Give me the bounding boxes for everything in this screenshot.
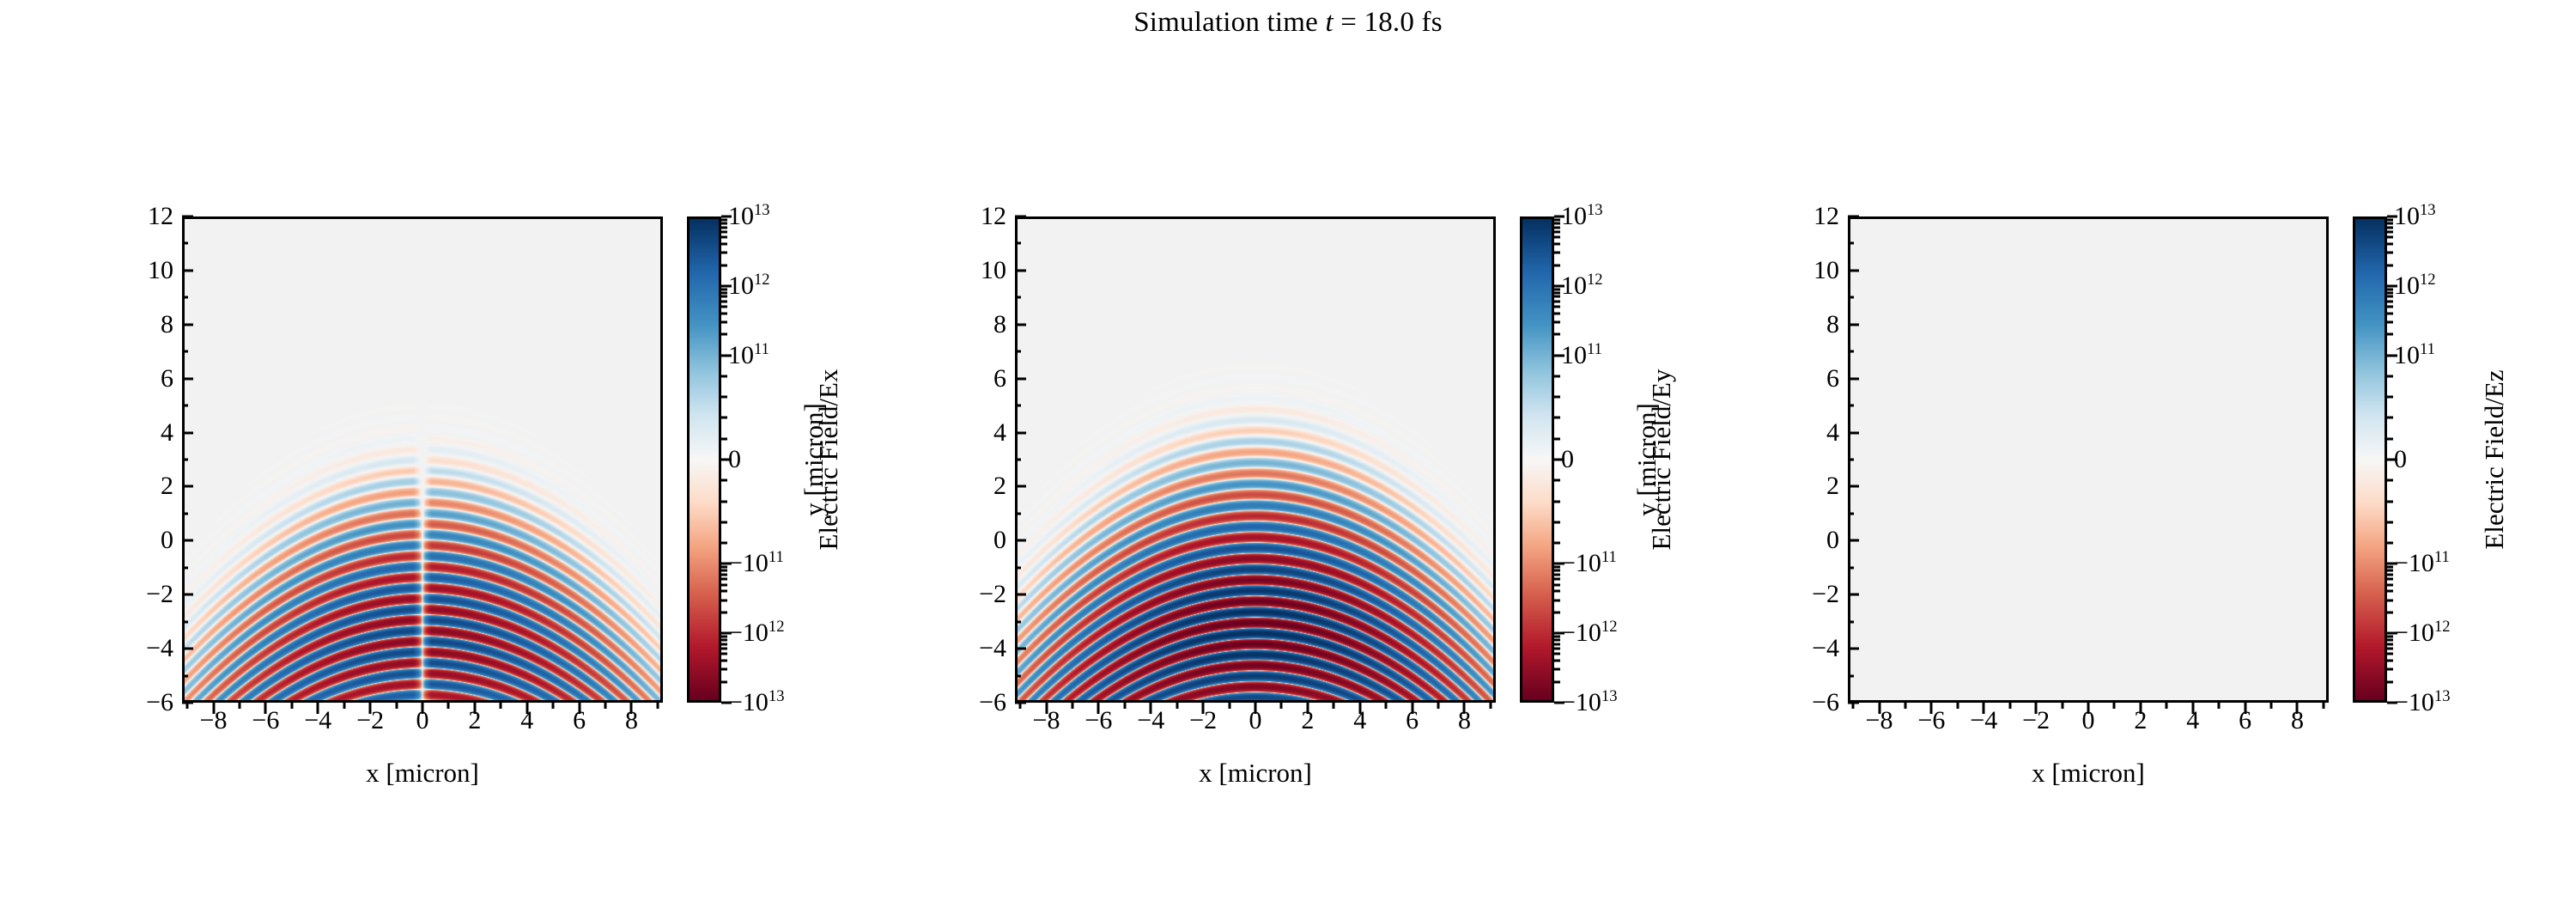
y-tick-minor: [1848, 459, 1854, 461]
colorbar-tick-minor: [721, 226, 727, 229]
x-tick-major: [1930, 703, 1933, 714]
colorbar-tick-label: 1013: [1561, 204, 1603, 229]
x-tick-major: [1097, 703, 1100, 714]
colorbar-tick-minor: [721, 611, 727, 613]
colorbar-tick-major: [721, 632, 732, 635]
y-tick-label: 4: [94, 420, 173, 446]
y-axis-ez: −6−4−2024681012: [1666, 216, 1839, 703]
x-tick-minor: [1228, 703, 1230, 709]
colorbar-tick-minor: [1554, 218, 1560, 221]
y-tick-major: [1015, 377, 1026, 380]
colorbar-tick-minor: [721, 252, 727, 254]
x-tick-major: [212, 703, 215, 714]
y-tick-label: 0: [1760, 527, 1839, 553]
colorbar-tick-minor: [2387, 635, 2393, 637]
y-axis-ey: −6−4−2024681012: [833, 216, 1006, 703]
colorbar-tick-minor: [721, 222, 727, 224]
y-axis-ex: −6−4−2024681012: [0, 216, 173, 703]
y-tick-major: [1848, 431, 1859, 434]
colorbar-tick-major: [2387, 563, 2397, 565]
colorbar-tick-minor: [721, 243, 727, 246]
colorbar-tick-minor: [1554, 300, 1560, 302]
colorbar-tick-minor: [2387, 680, 2393, 683]
colorbar-tick-minor: [721, 296, 727, 298]
y-tick-minor: [1848, 512, 1854, 515]
y-tick-major: [182, 539, 193, 542]
colorbar-label-ez: Electric Field/Ez: [2479, 275, 2510, 644]
colorbar-tick-minor: [721, 638, 727, 641]
y-tick-label: 2: [1760, 473, 1839, 499]
y-tick-minor: [1015, 674, 1021, 677]
y-tick-label: −2: [1760, 582, 1839, 607]
colorbar-tick-label: 1012: [1561, 273, 1603, 299]
y-tick-major: [1015, 539, 1026, 542]
colorbar-tick-minor: [721, 396, 727, 399]
y-tick-minor: [1015, 620, 1021, 623]
colorbar-tick-minor: [1554, 635, 1560, 637]
x-tick-minor: [1385, 703, 1388, 709]
colorbar-tick-label: −1011: [728, 551, 784, 576]
x-tick-major: [1411, 703, 1413, 714]
colorbar-tick-minor: [2387, 590, 2393, 593]
colorbar-tick-label: −1012: [2394, 620, 2451, 646]
y-tick-label: 10: [927, 258, 1006, 283]
y-tick-label: −4: [94, 636, 173, 661]
colorbar-tick-minor: [2387, 218, 2393, 221]
colorbar-tick-major: [721, 284, 732, 287]
x-axis-label: x [micron]: [182, 758, 663, 789]
y-tick-major: [1848, 269, 1859, 271]
colorbar-tick-minor: [2387, 243, 2393, 246]
y-tick-minor: [182, 296, 188, 299]
colorbar-tick-minor: [1554, 542, 1560, 545]
colorbar-tick-minor: [721, 648, 727, 650]
colorbar-tick-minor: [721, 264, 727, 266]
y-tick-major: [182, 485, 193, 488]
colorbar-tick-minor: [721, 599, 727, 601]
colorbar-tick-minor: [721, 668, 727, 671]
y-tick-minor: [182, 620, 188, 623]
y-tick-label: 4: [927, 420, 1006, 446]
y-tick-minor: [1848, 242, 1854, 245]
colorbar-tick-major: [2387, 632, 2397, 635]
colorbar-tick-minor: [2387, 653, 2393, 655]
y-tick-label: 12: [927, 204, 1006, 229]
colorbar-tick-minor: [2387, 479, 2393, 482]
colorbar-tick-minor: [2387, 573, 2393, 576]
colorbar-tick-minor: [2387, 521, 2393, 523]
y-tick-label: −2: [94, 582, 173, 607]
colorbar-tick-minor: [1554, 437, 1560, 440]
x-tick-minor: [290, 703, 293, 709]
x-tick-minor: [552, 703, 555, 709]
colorbar-tick-minor: [2387, 333, 2393, 336]
colorbar-tick-minor: [721, 542, 727, 545]
colorbar-tick-minor: [2387, 583, 2393, 586]
field-heatmap-ez: [1850, 219, 2326, 700]
colorbar-tick-minor: [1554, 680, 1560, 683]
colorbar-tick-minor: [721, 479, 727, 482]
colorbar-tick-minor: [2387, 252, 2393, 254]
y-tick-label: 0: [94, 527, 173, 553]
x-tick-minor: [186, 703, 189, 709]
y-tick-minor: [182, 566, 188, 569]
plot-area-ex[interactable]: [182, 216, 663, 703]
y-tick-minor: [1015, 459, 1021, 461]
colorbar-tick-minor: [1554, 226, 1560, 229]
colorbar-tick-minor: [1554, 648, 1560, 650]
y-tick-minor: [182, 350, 188, 353]
y-tick-minor: [1015, 242, 1021, 245]
x-tick-minor: [2218, 703, 2221, 709]
x-tick-major: [2296, 703, 2299, 714]
colorbar-tick-minor: [1554, 583, 1560, 586]
x-axis-label: x [micron]: [1848, 758, 2329, 789]
x-tick-major: [422, 703, 424, 714]
y-tick-major: [182, 648, 193, 650]
x-tick-minor: [605, 703, 607, 709]
y-tick-minor: [1848, 674, 1854, 677]
colorbar-tick-major: [2387, 284, 2397, 287]
y-tick-major: [182, 594, 193, 596]
colorbar-tick-minor: [1554, 321, 1560, 324]
x-tick-minor: [1956, 703, 1959, 709]
colorbar-tick-minor: [2387, 611, 2393, 613]
y-tick-major: [1015, 485, 1026, 488]
colorbar-tick-minor: [2387, 296, 2393, 298]
y-tick-minor: [1848, 296, 1854, 299]
colorbar-tick-label: 1012: [2394, 273, 2436, 299]
x-tick-major: [1045, 703, 1048, 714]
colorbar-tick-minor: [1554, 243, 1560, 246]
y-tick-major: [1848, 539, 1859, 542]
colorbar-tick-minor: [721, 570, 727, 572]
x-tick-minor: [2113, 703, 2116, 709]
x-tick-minor: [343, 703, 345, 709]
x-tick-minor: [1852, 703, 1855, 709]
x-tick-minor: [1123, 703, 1126, 709]
colorbar-tick-minor: [721, 680, 727, 683]
colorbar-tick-label: −1011: [1561, 551, 1617, 576]
colorbar-tick-major: [1554, 702, 1564, 704]
colorbar-tick-major: [1554, 563, 1564, 565]
colorbar-tick-minor: [1554, 296, 1560, 298]
x-tick-major: [1150, 703, 1152, 714]
colorbar-tick-minor: [2387, 306, 2393, 308]
colorbar-tick-minor: [721, 291, 727, 294]
colorbar-tick-minor: [1554, 459, 1560, 461]
colorbar-tick-label: 1011: [1561, 343, 1602, 369]
colorbar-tick-major: [2387, 216, 2397, 218]
colorbar-tick-minor: [1554, 521, 1560, 523]
x-tick-major: [1358, 703, 1361, 714]
colorbar-tick-minor: [721, 643, 727, 645]
colorbar-tick-minor: [721, 578, 727, 581]
y-tick-label: 10: [94, 258, 173, 283]
colorbar-tick-minor: [2387, 542, 2393, 545]
colorbar-tick-minor: [721, 300, 727, 302]
colorbar-ex[interactable]: [687, 216, 721, 703]
colorbar-tick-major: [721, 563, 732, 565]
colorbar-tick-label: −1013: [1561, 690, 1618, 716]
colorbar-tick-minor: [2387, 321, 2393, 324]
field-heatmap-ex: [185, 219, 660, 700]
colorbar-tick-label: 1011: [728, 343, 769, 369]
x-tick-major: [2035, 703, 2038, 714]
x-tick-minor: [2270, 703, 2273, 709]
y-tick-label: −4: [927, 636, 1006, 661]
y-tick-label: −2: [927, 582, 1006, 607]
colorbar-tick-minor: [1554, 668, 1560, 671]
y-tick-minor: [1848, 350, 1854, 353]
colorbar-tick-minor: [721, 521, 727, 523]
colorbar-tick-minor: [721, 573, 727, 576]
colorbar-tick-label: −1011: [2394, 551, 2450, 576]
colorbar-tick-minor: [721, 313, 727, 315]
colorbar-tick-minor: [1554, 288, 1560, 290]
y-tick-minor: [1015, 512, 1021, 515]
colorbar-tick-minor: [1554, 611, 1560, 613]
x-tick-major: [2191, 703, 2194, 714]
colorbar-tick-minor: [721, 375, 727, 377]
colorbar-tick-minor: [1554, 313, 1560, 315]
colorbar-tick-minor: [1554, 479, 1560, 482]
y-tick-label: 12: [94, 204, 173, 229]
colorbar-tick-minor: [2387, 300, 2393, 302]
y-tick-label: 6: [94, 366, 173, 392]
y-tick-label: −6: [927, 690, 1006, 716]
x-tick-major: [473, 703, 476, 714]
colorbar-tick-major: [2387, 702, 2397, 704]
y-tick-major: [1015, 269, 1026, 271]
colorbar-tick-minor: [1554, 417, 1560, 419]
colorbar-tick-minor: [721, 590, 727, 593]
y-tick-major: [182, 323, 193, 326]
colorbar-tick-minor: [721, 236, 727, 239]
x-tick-minor: [2008, 703, 2011, 709]
y-tick-label: 2: [94, 473, 173, 499]
colorbar-tick-minor: [2387, 578, 2393, 581]
colorbar-tick-minor: [721, 333, 727, 336]
x-tick-major: [2139, 703, 2142, 714]
colorbar-tick-minor: [1554, 306, 1560, 308]
colorbar-tick-label: −1013: [728, 690, 785, 716]
figure-title-suffix: = 18.0 fs: [1334, 7, 1443, 38]
colorbar-tick-minor: [1554, 396, 1560, 399]
colorbar-tick-minor: [721, 635, 727, 637]
y-tick-label: 2: [927, 473, 1006, 499]
colorbar-ez[interactable]: [2353, 216, 2387, 703]
x-tick-minor: [1176, 703, 1178, 709]
colorbar-tick-major: [2387, 354, 2397, 357]
colorbar-tick-minor: [1554, 660, 1560, 662]
y-tick-label: 8: [1760, 312, 1839, 338]
colorbar-tick-minor: [2387, 500, 2393, 503]
colorbar-tick-minor: [1554, 643, 1560, 645]
y-tick-label: −6: [1760, 690, 1839, 716]
colorbar-tick-minor: [2387, 417, 2393, 419]
colorbar-tick-minor: [2387, 638, 2393, 641]
colorbar-tick-minor: [1554, 375, 1560, 377]
y-tick-major: [1015, 216, 1026, 218]
x-axis-label: x [micron]: [1015, 758, 1496, 789]
colorbar-tick-minor: [1554, 333, 1560, 336]
x-tick-minor: [2061, 703, 2063, 709]
colorbar-tick-minor: [1554, 222, 1560, 224]
x-tick-minor: [1280, 703, 1283, 709]
colorbar-tick-minor: [721, 459, 727, 461]
y-tick-minor: [182, 405, 188, 407]
colorbar-tick-minor: [1554, 599, 1560, 601]
colorbar-tick-minor: [2387, 643, 2393, 645]
y-tick-minor: [182, 242, 188, 245]
y-tick-major: [1015, 323, 1026, 326]
colorbar-tick-major: [1554, 354, 1564, 357]
y-tick-label: 0: [927, 527, 1006, 553]
x-tick-major: [2244, 703, 2246, 714]
y-tick-label: 4: [1760, 420, 1839, 446]
x-tick-major: [1306, 703, 1309, 714]
y-tick-label: 12: [1760, 204, 1839, 229]
y-tick-major: [1015, 431, 1026, 434]
x-tick-minor: [1019, 703, 1022, 709]
x-tick-minor: [1437, 703, 1440, 709]
colorbar-tick-minor: [2387, 565, 2393, 568]
colorbar-tick-minor: [2387, 459, 2393, 461]
colorbar-tick-minor: [2387, 222, 2393, 224]
colorbar-tick-minor: [721, 306, 727, 308]
colorbar-tick-label: −1012: [728, 620, 785, 646]
colorbar-tick-minor: [2387, 313, 2393, 315]
y-tick-major: [1848, 377, 1859, 380]
y-tick-label: −4: [1760, 636, 1839, 661]
colorbar-tick-major: [721, 354, 732, 357]
x-tick-major: [1202, 703, 1205, 714]
colorbar-tick-minor: [1554, 570, 1560, 572]
x-tick-minor: [1333, 703, 1335, 709]
colorbar-tick-major: [1554, 284, 1564, 287]
y-tick-major: [1015, 648, 1026, 650]
x-tick-minor: [1071, 703, 1073, 709]
y-tick-major: [182, 269, 193, 271]
y-tick-major: [182, 377, 193, 380]
y-tick-minor: [1015, 296, 1021, 299]
y-tick-major: [1848, 323, 1859, 326]
colorbar-tick-minor: [1554, 653, 1560, 655]
y-tick-major: [1848, 485, 1859, 488]
y-tick-label: 8: [94, 312, 173, 338]
x-tick-major: [1255, 703, 1257, 714]
colorbar-tick-minor: [1554, 578, 1560, 581]
colorbar-ey[interactable]: [1520, 216, 1554, 703]
colorbar-tick-label: 1013: [2394, 204, 2436, 229]
x-tick-major: [369, 703, 372, 714]
x-tick-major: [317, 703, 319, 714]
colorbar-tick-minor: [2387, 230, 2393, 233]
y-tick-major: [1848, 648, 1859, 650]
y-tick-major: [1848, 216, 1859, 218]
colorbar-tick-minor: [2387, 599, 2393, 601]
colorbar-tick-minor: [2387, 437, 2393, 440]
colorbar-tick-minor: [721, 230, 727, 233]
x-tick-minor: [2322, 703, 2324, 709]
colorbar-tick-minor: [721, 218, 727, 221]
colorbar-tick-minor: [1554, 638, 1560, 641]
y-tick-label: 10: [1760, 258, 1839, 283]
y-axis-label: y [micron]: [799, 305, 829, 614]
colorbar-tick-minor: [1554, 291, 1560, 294]
figure-title: Simulation time t = 18.0 fs: [0, 7, 2576, 39]
colorbar-tick-minor: [2387, 668, 2393, 671]
colorbar-tick-minor: [721, 660, 727, 662]
x-tick-minor: [447, 703, 450, 709]
x-tick-minor: [1904, 703, 1906, 709]
colorbar-tick-minor: [721, 500, 727, 503]
plot-area-ey[interactable]: [1015, 216, 1496, 703]
colorbar-tick-label: 1012: [728, 273, 770, 299]
colorbar-tick-minor: [2387, 288, 2393, 290]
colorbar-tick-minor: [2387, 264, 2393, 266]
colorbar-tick-minor: [1554, 590, 1560, 593]
colorbar-tick-label: −1013: [2394, 690, 2451, 716]
x-tick-minor: [656, 703, 659, 709]
colorbar-tick-minor: [1554, 573, 1560, 576]
colorbar-tick-minor: [721, 653, 727, 655]
x-tick-major: [578, 703, 580, 714]
x-tick-minor: [1489, 703, 1492, 709]
colorbar-tick-minor: [721, 583, 727, 586]
colorbar-tick-minor: [2387, 226, 2393, 229]
colorbar-tick-minor: [721, 437, 727, 440]
colorbar-tick-major: [1554, 632, 1564, 635]
x-tick-major: [2087, 703, 2090, 714]
x-tick-major: [630, 703, 633, 714]
plot-area-ez[interactable]: [1848, 216, 2329, 703]
y-tick-label: 6: [1760, 366, 1839, 392]
y-tick-minor: [182, 512, 188, 515]
colorbar-tick-minor: [721, 565, 727, 568]
colorbar-tick-minor: [1554, 230, 1560, 233]
y-tick-minor: [1848, 566, 1854, 569]
y-tick-label: −6: [94, 690, 173, 716]
colorbar-tick-minor: [1554, 264, 1560, 266]
colorbar-tick-minor: [1554, 565, 1560, 568]
colorbar-tick-minor: [2387, 236, 2393, 239]
x-tick-major: [1878, 703, 1880, 714]
x-tick-major: [1463, 703, 1466, 714]
colorbar-tick-label: 1013: [728, 204, 770, 229]
x-tick-minor: [395, 703, 398, 709]
colorbar-tick-major: [721, 702, 732, 704]
y-tick-minor: [1015, 566, 1021, 569]
colorbar-tick-minor: [2387, 648, 2393, 650]
y-tick-minor: [1848, 405, 1854, 407]
x-tick-major: [1983, 703, 1985, 714]
field-heatmap-ey: [1018, 219, 1493, 700]
colorbar-tick-major: [721, 216, 732, 218]
y-tick-label: 8: [927, 312, 1006, 338]
y-tick-major: [182, 216, 193, 218]
colorbar-tick-label: −1012: [1561, 620, 1618, 646]
y-tick-major: [1848, 594, 1859, 596]
colorbar-tick-minor: [2387, 375, 2393, 377]
colorbar-tick-minor: [721, 321, 727, 324]
figure-title-prefix: Simulation time: [1133, 7, 1325, 38]
y-tick-major: [182, 431, 193, 434]
colorbar-tick-minor: [1554, 236, 1560, 239]
x-tick-minor: [2166, 703, 2168, 709]
y-tick-minor: [1848, 620, 1854, 623]
